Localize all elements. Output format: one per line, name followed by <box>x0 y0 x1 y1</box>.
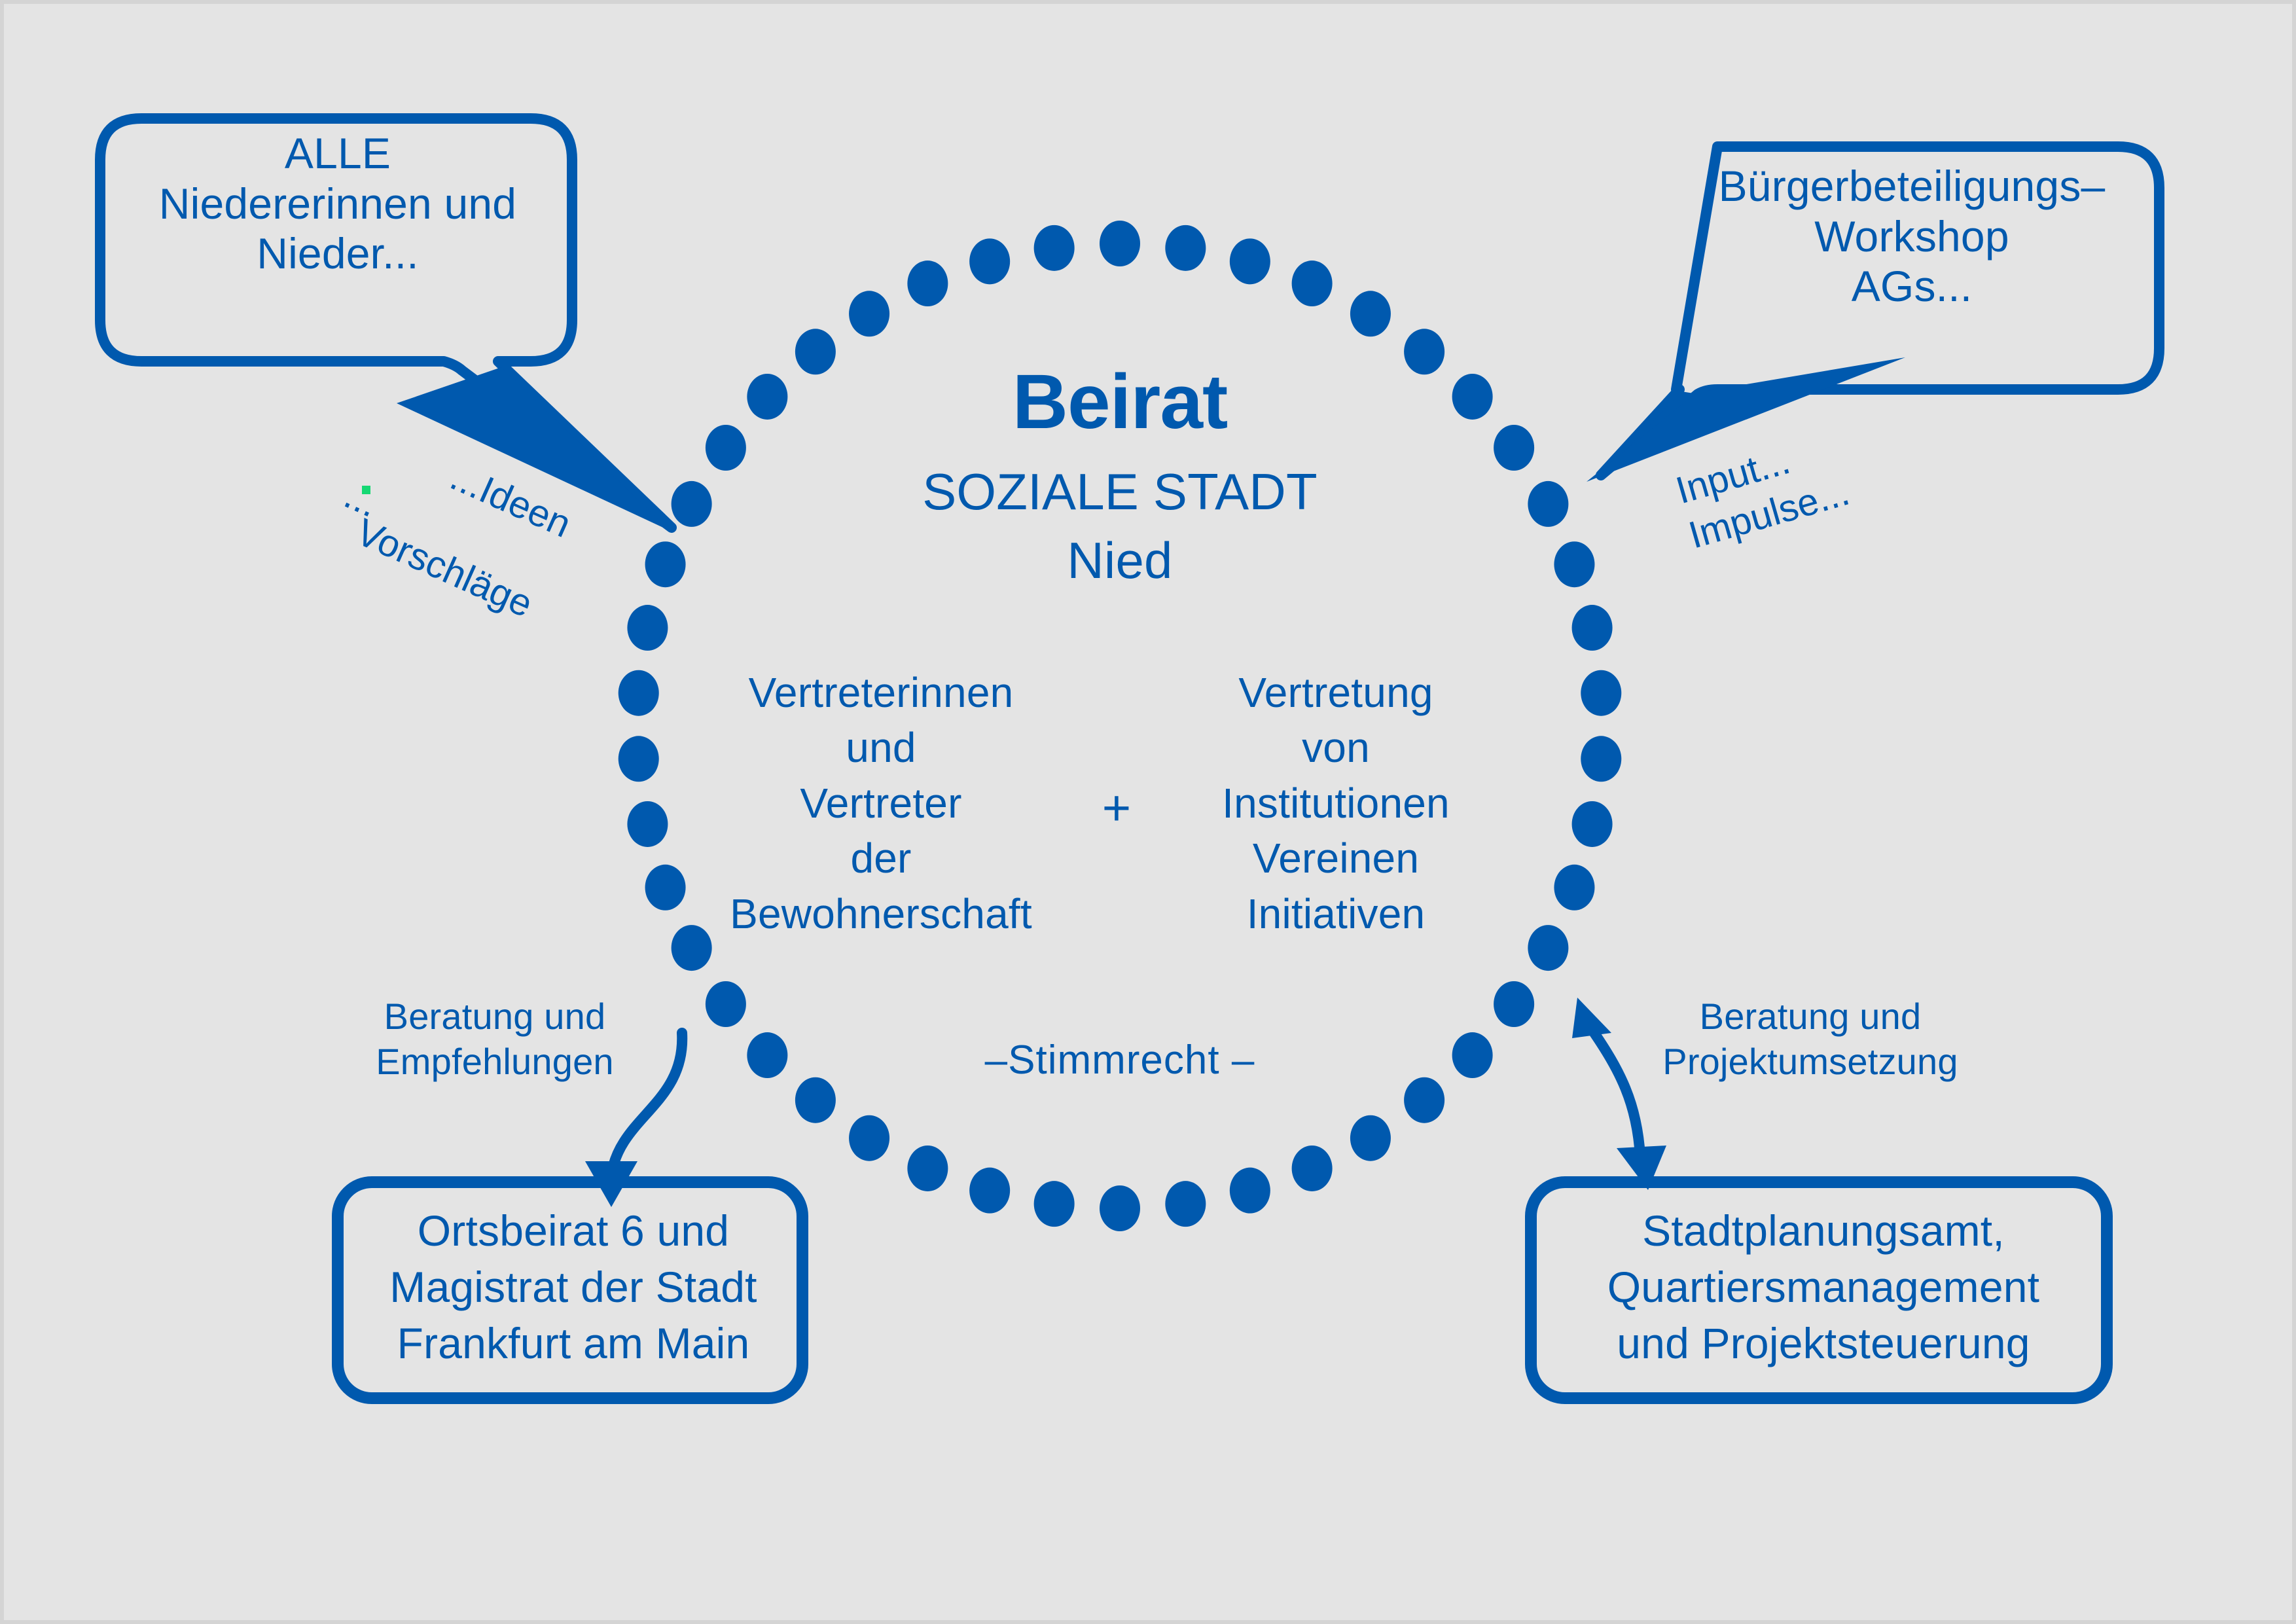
ring-dot <box>1528 481 1568 527</box>
center-subtitle-line2: Nied <box>727 531 1513 590</box>
bubble-top-right-label: Bürgerbeteiligungs– Workshop AGs... <box>1673 161 2151 312</box>
box-bottom-left-label: Ortsbeirat 6 und Magistrat der Stadt Fra… <box>344 1203 802 1371</box>
ring-dot <box>645 541 686 587</box>
label-bottom-left-arrow: Beratung und Empfehlungen <box>344 994 645 1085</box>
ring-dot <box>1494 981 1534 1027</box>
ring-dot <box>1165 225 1206 271</box>
center-column-right: Vertretung von Institutionen Vereinen In… <box>1153 665 1519 941</box>
ring-dot <box>795 1077 836 1123</box>
ring-dot <box>1572 605 1613 651</box>
ring-dot <box>672 481 712 527</box>
ring-dot <box>1554 541 1594 587</box>
ring-dot <box>1581 670 1621 716</box>
ring-dot <box>907 1146 948 1191</box>
ring-dot <box>969 1168 1010 1214</box>
ring-dot <box>1230 238 1270 284</box>
ring-dot <box>1452 1032 1493 1078</box>
ring-dot <box>1100 1185 1140 1231</box>
ring-dot <box>1528 925 1568 971</box>
ring-dot <box>627 605 668 651</box>
ring-dot <box>1404 1077 1444 1123</box>
box-bottom-right-label: Stadtplanungsamt, Quartiersmanagement un… <box>1549 1203 2098 1371</box>
ring-dot <box>1034 225 1075 271</box>
ring-dot <box>627 801 668 847</box>
ring-dot <box>907 261 948 306</box>
ring-dot <box>1350 1115 1391 1161</box>
ring-dot <box>619 670 659 716</box>
ring-dot <box>747 1032 787 1078</box>
ring-dot <box>969 238 1010 284</box>
ring-dot <box>1165 1181 1206 1227</box>
ring-dot <box>1230 1168 1270 1214</box>
center-subtitle-line1: SOZIALE STADT <box>727 462 1513 521</box>
ring-dot <box>1292 261 1333 306</box>
green-dot-marker <box>362 486 370 494</box>
center-column-left: Vertreterinnen und Vertreter der Bewohne… <box>678 665 1084 941</box>
diagram-canvas: ALLE Niedererinnen und Nieder... Bürgerb… <box>0 0 2296 1624</box>
bubble-top-left-label: ALLE Niedererinnen und Nieder... <box>96 128 580 279</box>
ring-dot <box>849 291 889 336</box>
ring-dot <box>1292 1146 1333 1191</box>
ring-dot <box>849 1115 889 1161</box>
ring-dot <box>1034 1181 1075 1227</box>
center-footnote-stimmrecht: –Stimmrecht – <box>924 1037 1316 1084</box>
label-bottom-right-arrow: Beratung und Projektumsetzung <box>1634 994 1987 1085</box>
center-plus-sign: + <box>1087 780 1146 837</box>
ring-dot <box>619 736 659 782</box>
ring-dot <box>1581 736 1621 782</box>
center-title: Beirat <box>727 357 1513 447</box>
ring-dot <box>1572 801 1613 847</box>
ring-dot <box>1554 865 1594 911</box>
ring-dot <box>1100 221 1140 266</box>
ring-dot <box>706 981 746 1027</box>
ring-dot <box>1350 291 1391 336</box>
